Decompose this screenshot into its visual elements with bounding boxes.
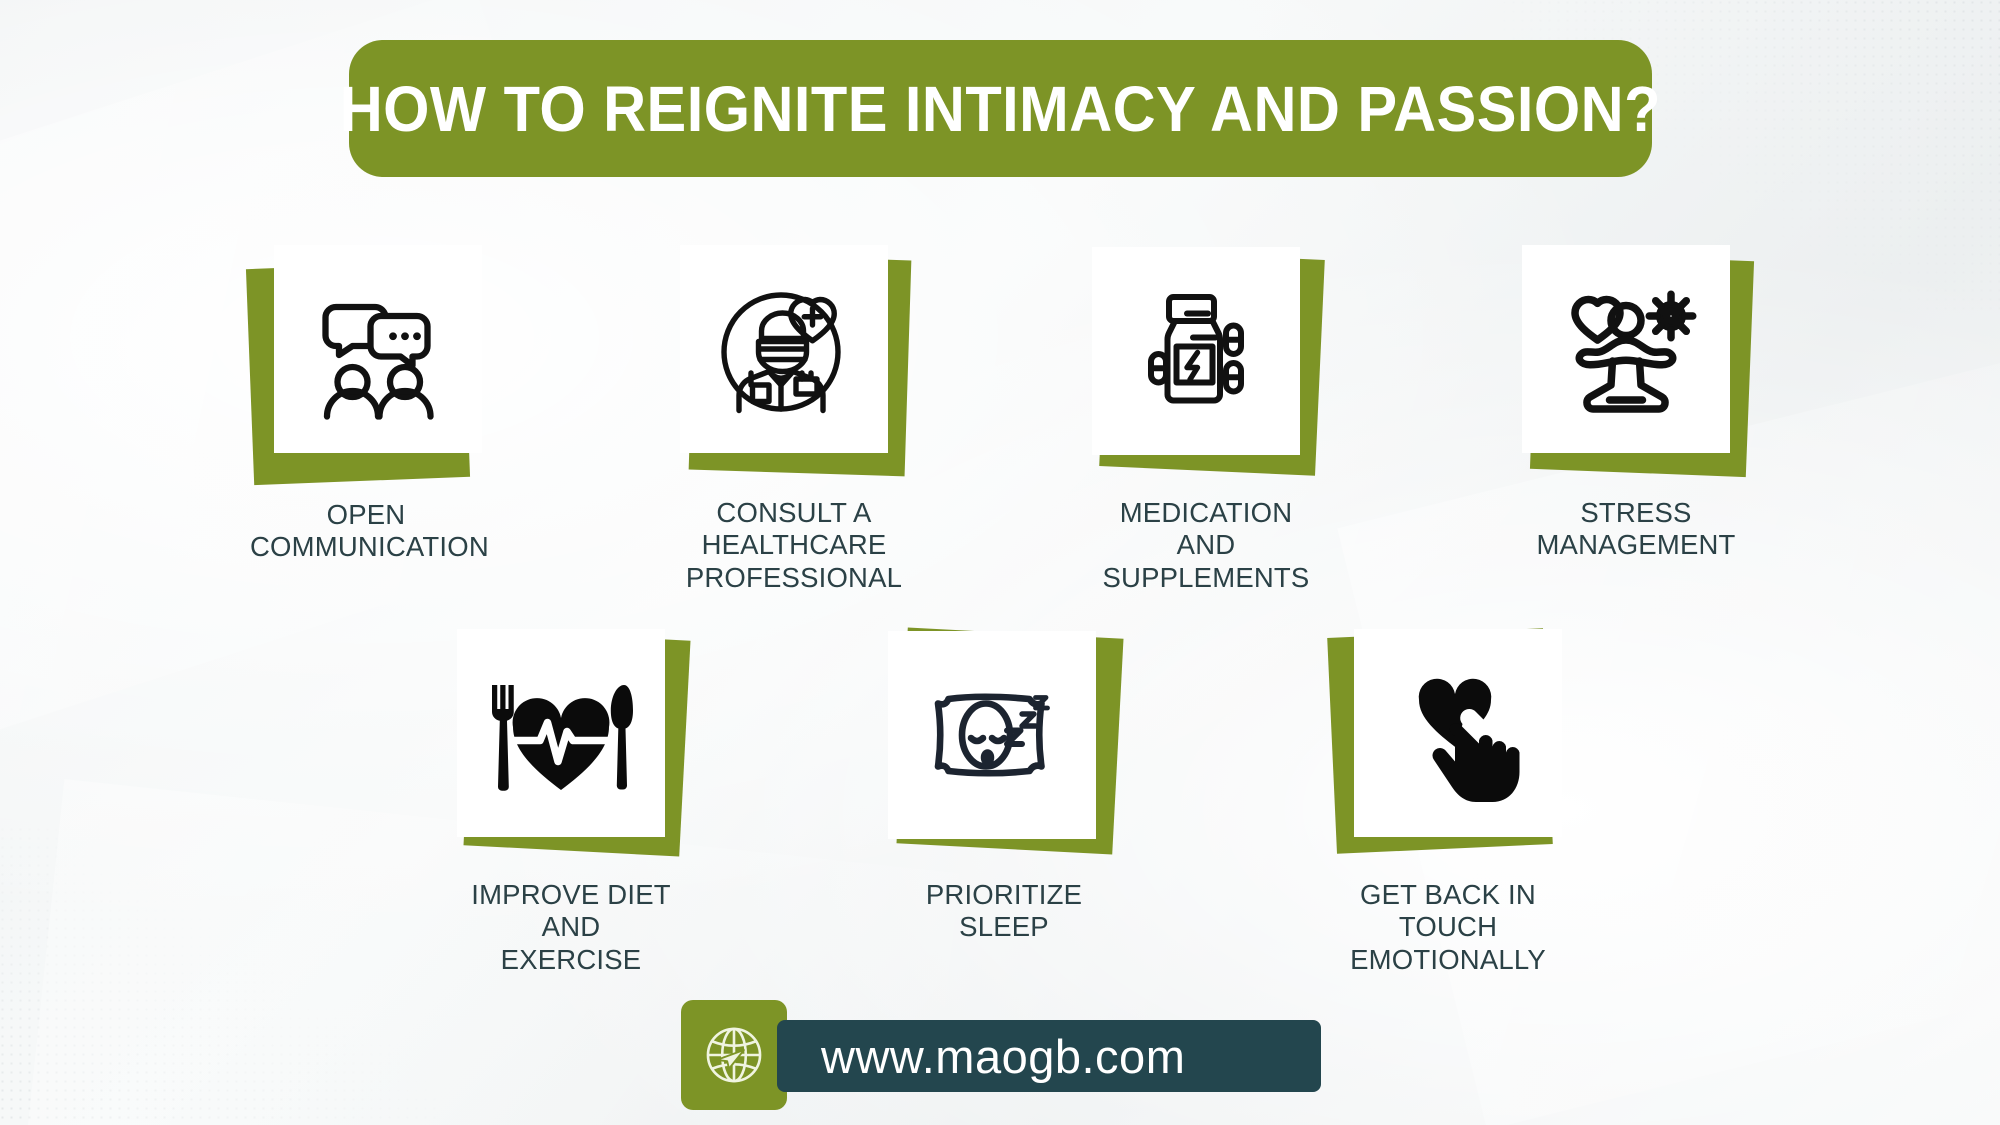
card-label: CONSULT A HEALTHCARE PROFESSIONAL: [678, 497, 910, 594]
card-open-communication[interactable]: OPEN COMMUNICATION: [250, 245, 482, 564]
card-stress-management[interactable]: STRESS MANAGEMENT: [1520, 243, 1752, 562]
card-medication-supplements[interactable]: MEDICATION AND SUPPLEMENTS: [1090, 243, 1322, 594]
icon-tile: [888, 625, 1120, 857]
footer-globe-badge: [681, 1000, 787, 1110]
icon-tile: [1520, 243, 1752, 475]
card-touch-emotionally[interactable]: GET BACK IN TOUCH EMOTIONALLY: [1332, 625, 1564, 976]
sleeping-pillow-zzz-icon: [917, 660, 1067, 810]
card-label: MEDICATION AND SUPPLEMENTS: [1090, 497, 1322, 594]
tile-front-shape: [1354, 629, 1562, 837]
card-label: PRIORITIZE SLEEP: [888, 879, 1120, 944]
icon-tile: [678, 243, 910, 475]
footer-website-bar[interactable]: www.maogb.com: [681, 1000, 1321, 1110]
card-label: STRESS MANAGEMENT: [1520, 497, 1752, 562]
card-label: OPEN COMMUNICATION: [250, 499, 482, 564]
supplement-bottle-pills-icon: [1121, 276, 1271, 426]
heart-ecg-fork-knife-icon: [486, 658, 636, 808]
footer-url-plate[interactable]: www.maogb.com: [777, 1020, 1321, 1092]
card-healthcare-professional[interactable]: CONSULT A HEALTHCARE PROFESSIONAL: [678, 243, 910, 594]
tile-front-shape: [1522, 245, 1730, 453]
infographic-canvas: HOW TO REIGNITE INTIMACY AND PASSION?: [0, 0, 2000, 1125]
globe-paper-plane-icon: [703, 1024, 765, 1086]
doctor-with-heart-cross-icon: [709, 274, 859, 424]
meditation-heart-gear-icon: [1551, 274, 1701, 424]
icon-tile: [1090, 243, 1322, 475]
tile-front-shape: [274, 245, 482, 453]
icon-tile: [1332, 625, 1564, 857]
two-people-speech-bubbles-icon: [303, 274, 453, 424]
tile-front-shape: [457, 629, 665, 837]
card-label: IMPROVE DIET AND EXERCISE: [455, 879, 687, 976]
card-label: GET BACK IN TOUCH EMOTIONALLY: [1332, 879, 1564, 976]
tile-front-shape: [1092, 247, 1300, 455]
website-url-text: www.maogb.com: [821, 1029, 1185, 1084]
tile-front-shape: [680, 245, 888, 453]
hand-touching-heart-icon: [1383, 658, 1533, 808]
cards-grid: OPEN COMMUNICATION: [0, 0, 2000, 1125]
card-diet-exercise[interactable]: IMPROVE DIET AND EXERCISE: [455, 625, 687, 976]
tile-front-shape: [888, 631, 1096, 839]
card-prioritize-sleep[interactable]: PRIORITIZE SLEEP: [888, 625, 1120, 944]
icon-tile: [455, 625, 687, 857]
icon-tile: [250, 245, 482, 477]
